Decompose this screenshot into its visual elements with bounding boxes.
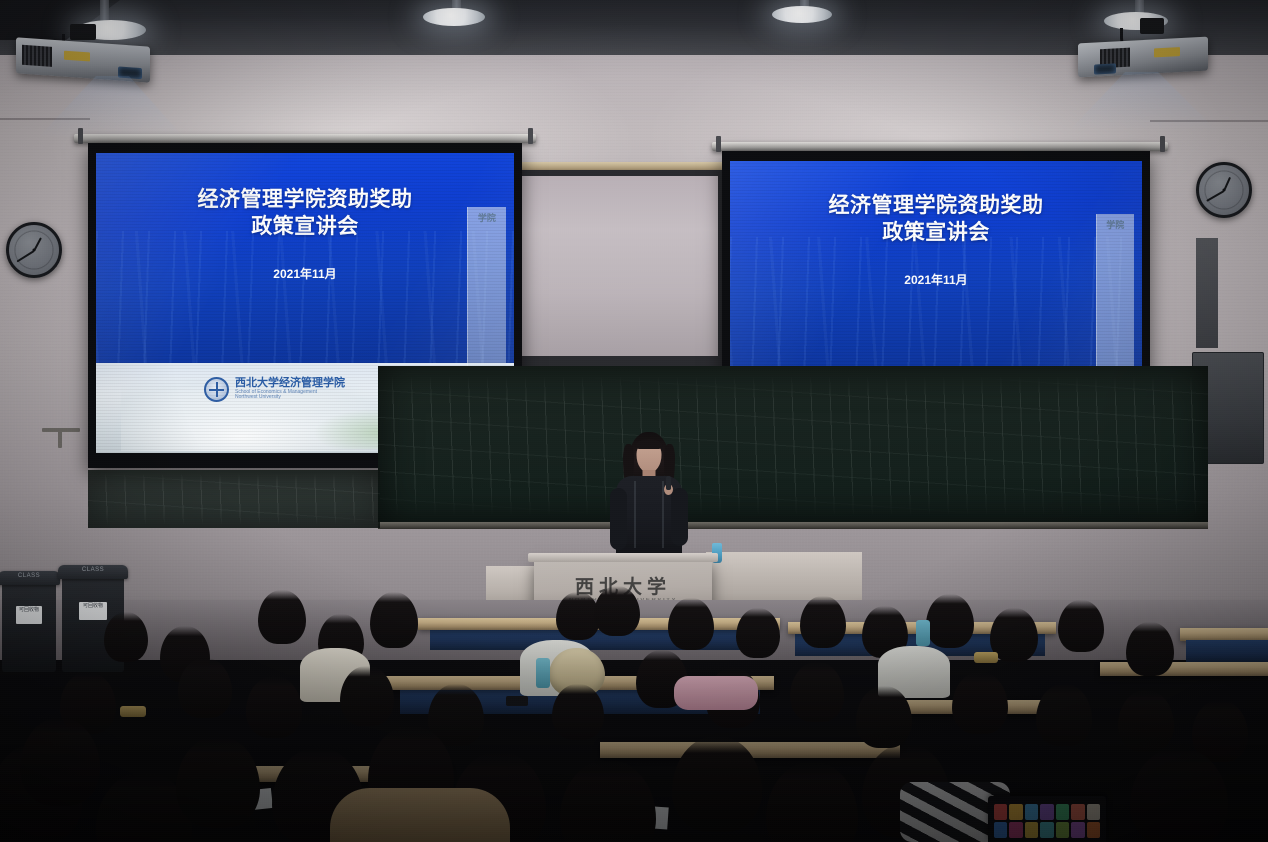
slide-background-trees xyxy=(730,237,1142,366)
audience-head-front xyxy=(1130,748,1228,842)
university-emblem-icon xyxy=(204,377,229,402)
audience-head-front xyxy=(560,760,656,842)
slide-date: 2021年11月 xyxy=(96,265,514,282)
audience-head-front xyxy=(20,718,100,806)
projector-lens xyxy=(1094,63,1116,74)
audience-head xyxy=(790,662,844,722)
tan-coat xyxy=(330,788,510,842)
audience-head xyxy=(1036,684,1092,746)
audience-head xyxy=(1058,600,1104,652)
left-screen-housing xyxy=(74,134,536,143)
chalkboard-left-section xyxy=(88,470,380,528)
ceiling-light xyxy=(772,6,832,23)
slide-date: 2021年11月 xyxy=(730,271,1142,288)
right-wall-clock xyxy=(1196,162,1252,218)
audience-head xyxy=(178,658,232,718)
slide-logo-en2: Northwest University xyxy=(235,395,345,400)
chalk-writing xyxy=(88,470,380,528)
bin-label-line1: 可回收物 xyxy=(16,606,42,614)
screen-bracket xyxy=(78,128,83,144)
audience-head xyxy=(952,672,1008,734)
hair-clip xyxy=(974,652,998,663)
smartphone xyxy=(506,696,528,706)
ceiling-light xyxy=(423,8,485,26)
microphone xyxy=(666,476,671,490)
left-wall-clock xyxy=(6,222,62,278)
wall-conduit xyxy=(1196,238,1218,348)
slide-background-trees xyxy=(96,231,514,363)
clock-center-pin xyxy=(1223,189,1226,192)
right-screen-housing xyxy=(712,142,1168,151)
projector-lens xyxy=(118,66,142,79)
podium-lectern-top xyxy=(528,553,718,562)
wall-bracket-arm xyxy=(58,430,62,448)
screen-bracket xyxy=(528,128,533,144)
desk-row xyxy=(1100,662,1268,676)
slide-logo: 西北大学经济管理学院 School of Economics & Managem… xyxy=(204,377,345,402)
audience-head xyxy=(340,666,394,726)
projector-vent xyxy=(22,45,52,67)
chalkboard xyxy=(378,366,1208,526)
speaker-left-arm xyxy=(610,488,627,550)
water-bottle xyxy=(536,658,550,688)
screen-bracket xyxy=(716,136,721,152)
audience-head-front xyxy=(176,736,260,828)
speaker-right-arm xyxy=(671,488,688,546)
bin-label-line1: 可回收物 xyxy=(79,602,107,610)
bin-lid: CLASS xyxy=(0,571,60,585)
laptop xyxy=(988,796,1106,842)
audience-head xyxy=(1118,690,1174,752)
audience-head xyxy=(594,586,640,636)
center-retracted-screen xyxy=(512,170,726,366)
bin-lid-text: CLASS xyxy=(0,573,60,579)
slide-title-line2: 政策宣讲会 xyxy=(730,220,1142,247)
water-bottle xyxy=(916,620,930,646)
projector-brand-label xyxy=(64,51,90,62)
lecture-hall-photo: 学院 ← 经济管理学院资助奖助 政策宣讲会 2021年11月 西北大学经济管理学… xyxy=(0,0,1268,842)
bin-recycle-label: 可回收物 xyxy=(16,606,42,624)
audience-head xyxy=(104,612,148,662)
audience-head xyxy=(370,592,418,648)
slide-title: 经济管理学院资助奖助 政策宣讲会 xyxy=(96,187,514,241)
trash-bin: CLASS 可回收物 xyxy=(2,580,56,672)
audience-head xyxy=(552,684,604,740)
slide-title-line1: 经济管理学院资助奖助 xyxy=(730,193,1142,220)
slide-title-line1: 经济管理学院资助奖助 xyxy=(96,187,514,214)
bin-lid: CLASS xyxy=(58,565,128,579)
chalk-writing xyxy=(378,366,1208,526)
audience-head xyxy=(800,596,846,648)
hair-clip xyxy=(120,706,146,717)
slide-logo-text: 西北大学经济管理学院 School of Economics & Managem… xyxy=(235,378,345,400)
pink-jacket xyxy=(674,676,758,710)
audience-head xyxy=(258,590,306,644)
slide-title-line2: 政策宣讲会 xyxy=(96,214,514,241)
audience-head xyxy=(246,676,302,738)
screen-bracket xyxy=(1160,136,1165,152)
projector-brand-label xyxy=(1154,47,1180,57)
audience-head xyxy=(736,608,780,658)
bin-lid-text: CLASS xyxy=(58,567,128,573)
wall-seam xyxy=(0,118,90,120)
slide-title: 经济管理学院资助奖助 政策宣讲会 xyxy=(730,193,1142,247)
audience-head xyxy=(1126,622,1174,676)
audience-head-front xyxy=(766,762,858,842)
audience-head xyxy=(856,686,912,748)
bin-recycle-label: 可回收物 xyxy=(79,602,107,620)
clock-center-pin xyxy=(33,249,36,252)
wall-seam xyxy=(1150,120,1268,122)
audience-head xyxy=(668,598,714,650)
speaker-presenter xyxy=(606,432,692,562)
center-panel-surface xyxy=(520,176,718,356)
seat-back xyxy=(1186,640,1268,662)
speaker-fringe xyxy=(636,439,663,449)
audience-head-front xyxy=(672,736,762,832)
audience-head xyxy=(926,594,974,648)
chalkboard-tray xyxy=(378,522,1208,529)
laptop-sticker-grid xyxy=(994,804,1100,838)
right-ceiling-projector xyxy=(1078,37,1208,78)
